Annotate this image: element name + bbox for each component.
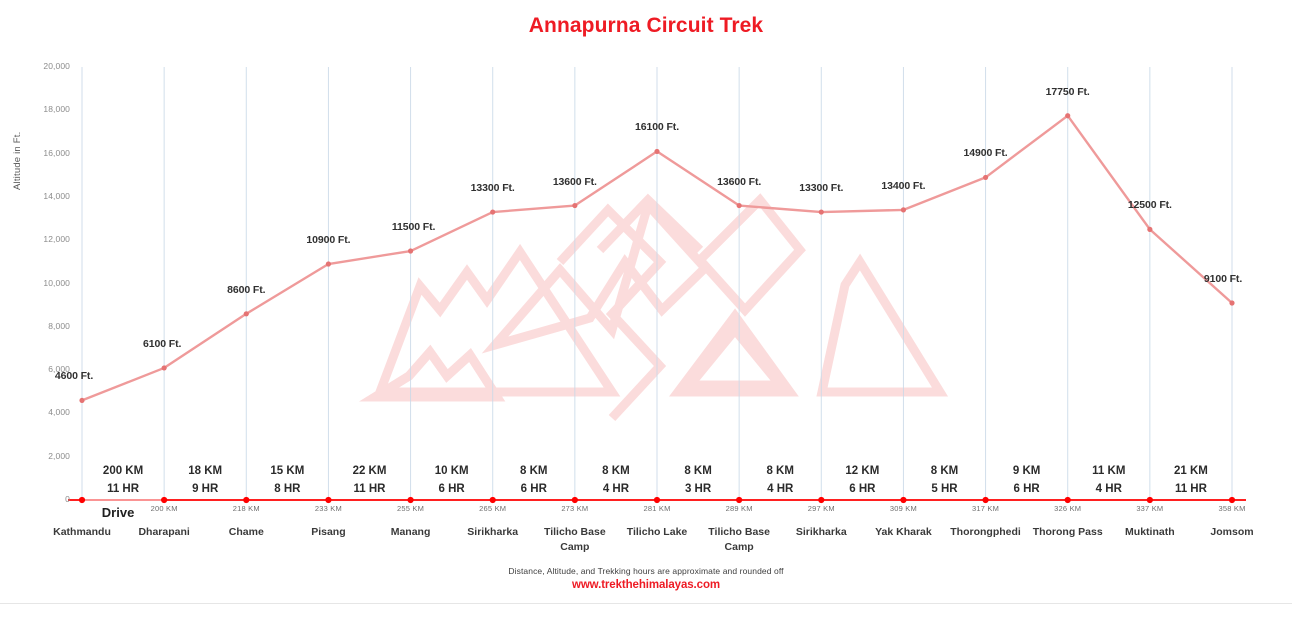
- place-name-label: Yak Kharak: [857, 525, 949, 540]
- segment-hours: 8 HR: [270, 480, 304, 498]
- drive-label: Drive: [102, 505, 135, 520]
- segment-distance: 10 KM: [435, 462, 469, 480]
- segment-distance: 15 KM: [270, 462, 304, 480]
- segment-hours: 9 HR: [188, 480, 222, 498]
- segment-distance: 18 KM: [188, 462, 222, 480]
- segment-distance: 8 KM: [684, 462, 711, 480]
- cumulative-km-label: 265 KM: [479, 504, 506, 513]
- segment-label: 8 KM3 HR: [684, 462, 711, 498]
- cumulative-km-label: 233 KM: [315, 504, 342, 513]
- altitude-value-label: 4600 Ft.: [55, 370, 93, 382]
- segment-hours: 5 HR: [931, 480, 958, 498]
- place-name-label: Sirikharka: [447, 525, 539, 540]
- segment-label: 15 KM8 HR: [270, 462, 304, 498]
- place-name-label: Jomsom: [1186, 525, 1278, 540]
- segment-hours: 11 HR: [103, 480, 143, 498]
- place-name-label: Tilicho Lake: [611, 525, 703, 540]
- segment-hours: 3 HR: [684, 480, 711, 498]
- y-tick-label: 16,000: [28, 148, 70, 158]
- cumulative-km-label: 326 KM: [1054, 504, 1081, 513]
- segment-distance: 11 KM: [1092, 462, 1125, 480]
- cumulative-km-label: 255 KM: [397, 504, 424, 513]
- segment-distance: 21 KM: [1174, 462, 1208, 480]
- chart-page: Annapurna Circuit Trek Altitude in Ft. 2…: [0, 0, 1292, 621]
- cumulative-km-label: 273 KM: [561, 504, 588, 513]
- bottom-divider: [0, 603, 1292, 604]
- segment-label: 21 KM11 HR: [1174, 462, 1208, 498]
- y-tick-label: 18,000: [28, 104, 70, 114]
- segment-distance: 9 KM: [1013, 462, 1040, 480]
- place-name-label: Manang: [365, 525, 457, 540]
- altitude-value-label: 13300 Ft.: [471, 182, 515, 194]
- segment-label: 10 KM6 HR: [435, 462, 469, 498]
- segment-hours: 11 HR: [1174, 480, 1208, 498]
- y-tick-label: 12,000: [28, 234, 70, 244]
- segment-label: 12 KM6 HR: [845, 462, 879, 498]
- altitude-value-label: 8600 Ft.: [227, 284, 265, 296]
- y-tick-label: 20,000: [28, 61, 70, 71]
- segment-label: 9 KM6 HR: [1013, 462, 1040, 498]
- cumulative-km-label: 281 KM: [643, 504, 670, 513]
- place-name-label: Thorongphedi: [940, 525, 1032, 540]
- segment-label: 11 KM4 HR: [1092, 462, 1125, 498]
- footnote-text: Distance, Altitude, and Trekking hours a…: [0, 566, 1292, 576]
- altitude-value-label: 11500 Ft.: [392, 221, 435, 233]
- segment-label: 18 KM9 HR: [188, 462, 222, 498]
- segment-hours: 4 HR: [766, 480, 793, 498]
- segment-label: 8 KM4 HR: [602, 462, 629, 498]
- segment-hours: 6 HR: [435, 480, 469, 498]
- altitude-value-label: 14900 Ft.: [964, 147, 1008, 159]
- altitude-value-label: 9100 Ft.: [1204, 273, 1242, 285]
- segment-label: 200 KM11 HR: [103, 462, 143, 498]
- y-tick-label: 2,000: [28, 451, 70, 461]
- y-tick-label: 4,000: [28, 407, 70, 417]
- segment-distance: 8 KM: [766, 462, 793, 480]
- y-tick-label: 8,000: [28, 321, 70, 331]
- cumulative-km-label: 297 KM: [808, 504, 835, 513]
- plot-area: 20,00018,00016,00014,00012,00010,0008,00…: [0, 0, 1292, 621]
- segment-distance: 8 KM: [520, 462, 547, 480]
- segment-label: 8 KM5 HR: [931, 462, 958, 498]
- website-link[interactable]: www.trekthehimalayas.com: [0, 579, 1292, 591]
- segment-hours: 6 HR: [520, 480, 547, 498]
- place-name-label: Chame: [200, 525, 292, 540]
- y-tick-label: 10,000: [28, 278, 70, 288]
- segment-hours: 11 HR: [353, 480, 387, 498]
- altitude-value-label: 12500 Ft.: [1128, 199, 1172, 211]
- place-name-label: Sirikharka: [775, 525, 867, 540]
- y-tick-label: 14,000: [28, 191, 70, 201]
- place-name-label: Kathmandu: [36, 525, 128, 540]
- segment-distance: 8 KM: [602, 462, 629, 480]
- cumulative-km-label: 289 KM: [726, 504, 753, 513]
- place-name-label: Tilicho Base Camp: [529, 525, 621, 555]
- segment-hours: 4 HR: [1092, 480, 1125, 498]
- y-tick-label: 0: [28, 494, 70, 504]
- cumulative-km-label: 218 KM: [233, 504, 260, 513]
- place-name-label: Thorong Pass: [1022, 525, 1114, 540]
- segment-distance: 22 KM: [353, 462, 387, 480]
- cumulative-km-label: 317 KM: [972, 504, 999, 513]
- segment-distance: 12 KM: [845, 462, 879, 480]
- cumulative-km-label: 309 KM: [890, 504, 917, 513]
- cumulative-km-label: 358 KM: [1218, 504, 1245, 513]
- segment-hours: 6 HR: [1013, 480, 1040, 498]
- altitude-value-label: 6100 Ft.: [143, 338, 181, 350]
- altitude-value-label: 10900 Ft.: [306, 234, 350, 246]
- place-name-label: Muktinath: [1104, 525, 1196, 540]
- segment-hours: 4 HR: [602, 480, 629, 498]
- cumulative-km-label: 200 KM: [151, 504, 178, 513]
- place-name-label: Pisang: [282, 525, 374, 540]
- place-name-label: Dharapani: [118, 525, 210, 540]
- altitude-value-label: 17750 Ft.: [1046, 86, 1090, 98]
- segment-label: 8 KM4 HR: [766, 462, 793, 498]
- segment-label: 22 KM11 HR: [353, 462, 387, 498]
- altitude-value-label: 13600 Ft.: [553, 176, 597, 188]
- segment-distance: 8 KM: [931, 462, 958, 480]
- segment-hours: 6 HR: [845, 480, 879, 498]
- altitude-value-label: 13600 Ft.: [717, 176, 761, 188]
- altitude-value-label: 13300 Ft.: [799, 182, 843, 194]
- segment-distance: 200 KM: [103, 462, 143, 480]
- segment-label: 8 KM6 HR: [520, 462, 547, 498]
- altitude-value-label: 13400 Ft.: [881, 180, 925, 192]
- cumulative-km-label: 337 KM: [1136, 504, 1163, 513]
- altitude-value-label: 16100 Ft.: [635, 121, 679, 133]
- place-name-label: Tilicho Base Camp: [693, 525, 785, 555]
